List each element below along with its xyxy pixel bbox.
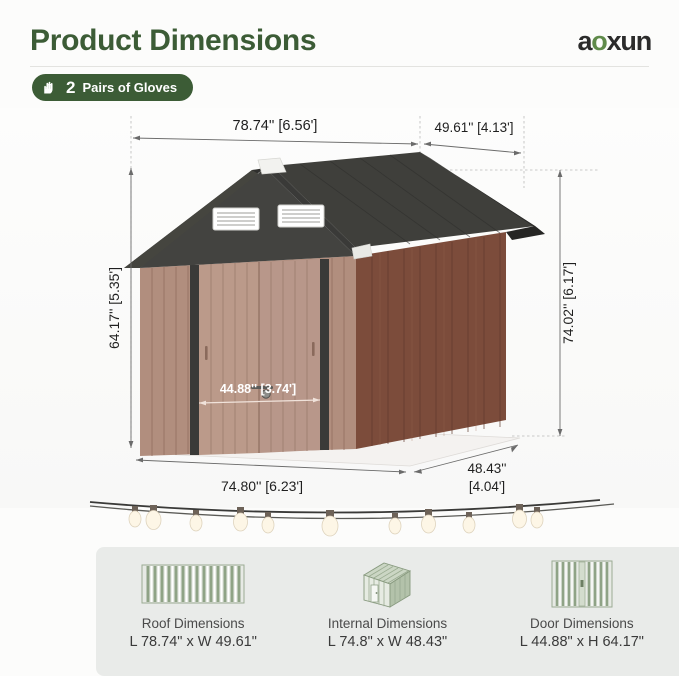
header: Product Dimensions aoxun 2 Pairs of Glov… bbox=[0, 0, 679, 108]
door-side-handle-left bbox=[205, 346, 208, 360]
page-title: Product Dimensions bbox=[30, 24, 316, 58]
summary-value: L 78.74" x W 49.61" bbox=[129, 634, 256, 650]
shed-illustration: 78.74'' [6.56'] 49.61'' [4.13'] bbox=[0, 108, 679, 508]
logo-accent-letter: o bbox=[591, 26, 606, 56]
door-side-handle-right bbox=[312, 342, 315, 356]
logo-text-part1: a bbox=[577, 26, 591, 56]
glove-icon bbox=[40, 78, 59, 97]
dimension-left-vertical-label: 64.17'' [5.35'] bbox=[106, 267, 122, 349]
dimension-right-vertical bbox=[512, 170, 566, 436]
summary-caption: Roof Dimensions bbox=[142, 616, 245, 631]
roof-vent-right bbox=[278, 205, 324, 227]
summary-caption: Door Dimensions bbox=[530, 616, 634, 631]
summary-value: L 74.8" x W 48.43" bbox=[328, 634, 447, 650]
shed-graphic bbox=[124, 152, 545, 466]
shed-side-wall bbox=[356, 232, 506, 449]
dimension-left-vertical bbox=[129, 168, 134, 448]
gloves-label: Pairs of Gloves bbox=[82, 80, 177, 95]
gloves-count: 2 bbox=[66, 78, 75, 98]
roof-ridge-cap bbox=[258, 158, 286, 174]
dimension-right-vertical-label: 74.02'' [6.17'] bbox=[560, 262, 576, 344]
door-left-panel bbox=[199, 262, 259, 455]
summary-value: L 44.88" x H 64.17" bbox=[520, 634, 644, 650]
dimension-bottom-right-label-line1: 48.43'' bbox=[468, 461, 507, 476]
header-divider bbox=[30, 66, 649, 67]
door-right-panel bbox=[259, 259, 320, 453]
shed-3d-icon bbox=[351, 559, 423, 609]
gloves-badge: 2 Pairs of Gloves bbox=[32, 74, 193, 101]
summary-cell-internal: Internal Dimensions L 74.8" x W 48.43" bbox=[290, 547, 484, 676]
roof-vent-left bbox=[213, 208, 259, 230]
dimension-top-right-label: 49.61'' [4.13'] bbox=[434, 120, 513, 135]
roof-panel-icon bbox=[141, 559, 245, 609]
door-jamb-left bbox=[190, 265, 199, 455]
dimension-top-left bbox=[133, 136, 418, 147]
double-door-icon bbox=[551, 559, 613, 609]
dimension-top-left-label: 78.74'' [6.56'] bbox=[233, 118, 318, 134]
light-wire-upper bbox=[90, 500, 600, 513]
logo-text-part2: xun bbox=[607, 26, 651, 56]
door-jamb-right bbox=[320, 259, 329, 450]
dimension-door-width-label: 44.88'' [3.74'] bbox=[220, 382, 296, 396]
brand-logo: aoxun bbox=[577, 26, 651, 57]
summary-caption: Internal Dimensions bbox=[328, 616, 447, 631]
dimension-top-right bbox=[424, 142, 521, 156]
summary-cell-door: Door Dimensions L 44.88" x H 64.17" bbox=[485, 547, 679, 676]
product-dimensions-infographic: Product Dimensions aoxun 2 Pairs of Glov… bbox=[0, 0, 679, 676]
string-lights-decor bbox=[0, 480, 679, 542]
summary-cell-roof: Roof Dimensions L 78.74" x W 49.61" bbox=[96, 547, 290, 676]
dimension-summary-card: Roof Dimensions L 78.74" x W 49.61" bbox=[96, 547, 679, 676]
